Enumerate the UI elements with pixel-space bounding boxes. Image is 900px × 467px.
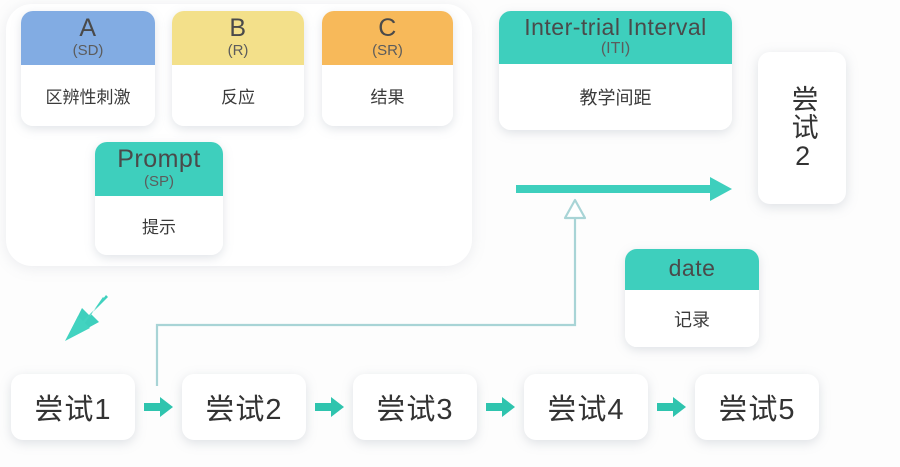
trial-box-3[interactable]: 尝试3 — [353, 374, 477, 440]
card-iti-header: Inter-trial Interval (ITI) — [499, 11, 732, 64]
card-a-sub-label: (SD) — [73, 43, 104, 58]
trial-box-5-label: 尝试5 — [718, 386, 795, 428]
card-c-header: C (SR) — [322, 11, 453, 65]
trial-box-4-label: 尝试4 — [547, 386, 624, 428]
trial-box-3-label: 尝试3 — [376, 386, 453, 428]
group-to-trial-sequence-arrow-icon — [58, 292, 114, 348]
trial-box-1-label: 尝试1 — [34, 386, 111, 428]
card-a-body-label: 区辨性刺激 — [21, 65, 155, 126]
card-a-sd[interactable]: A (SD) 区辨性刺激 — [21, 11, 155, 126]
trial-arrow-3-4-icon — [484, 396, 517, 418]
card-date-main-label: date — [669, 257, 716, 280]
card-next-trial-label: 尝试2 — [786, 85, 817, 172]
card-c-body-label: 结果 — [322, 65, 453, 126]
card-iti-body-label: 教学间距 — [499, 64, 732, 130]
card-date-record[interactable]: date 记录 — [625, 249, 759, 347]
card-a-main-label: A — [79, 16, 96, 41]
card-b-main-label: B — [229, 16, 246, 41]
card-c-sub-label: (SR) — [372, 43, 403, 58]
trial-box-2[interactable]: 尝试2 — [182, 374, 306, 440]
card-c-main-label: C — [378, 16, 397, 41]
card-inter-trial-interval[interactable]: Inter-trial Interval (ITI) 教学间距 — [499, 11, 732, 130]
card-a-header: A (SD) — [21, 11, 155, 65]
card-b-sub-label: (R) — [228, 43, 249, 58]
trial-box-5[interactable]: 尝试5 — [695, 374, 819, 440]
trial-arrow-1-2-icon — [142, 396, 175, 418]
card-prompt-main-label: Prompt — [117, 147, 201, 172]
card-date-header: date — [625, 249, 759, 290]
trial-arrow-2-3-icon — [313, 396, 346, 418]
card-iti-sub-label: (ITI) — [601, 41, 630, 57]
card-prompt-sub-label: (SP) — [144, 174, 174, 189]
card-c-sr[interactable]: C (SR) 结果 — [322, 11, 453, 126]
card-b-body-label: 反应 — [172, 65, 304, 126]
card-prompt-header: Prompt (SP) — [95, 142, 223, 196]
card-b-r[interactable]: B (R) 反应 — [172, 11, 304, 126]
trial-box-4[interactable]: 尝试4 — [524, 374, 648, 440]
card-next-trial[interactable]: 尝试2 — [758, 52, 846, 204]
card-date-body-label: 记录 — [625, 290, 759, 347]
card-b-header: B (R) — [172, 11, 304, 65]
diagram-canvas: A (SD) 区辨性刺激 B (R) 反应 C (SR) 结果 Prompt (… — [0, 0, 900, 467]
card-iti-main-label: Inter-trial Interval — [524, 16, 707, 39]
trial-box-2-label: 尝试2 — [205, 386, 282, 428]
trial-sequence-to-iti-connector-icon — [148, 196, 588, 386]
trial-arrow-4-5-icon — [655, 396, 688, 418]
trial-box-1[interactable]: 尝试1 — [11, 374, 135, 440]
